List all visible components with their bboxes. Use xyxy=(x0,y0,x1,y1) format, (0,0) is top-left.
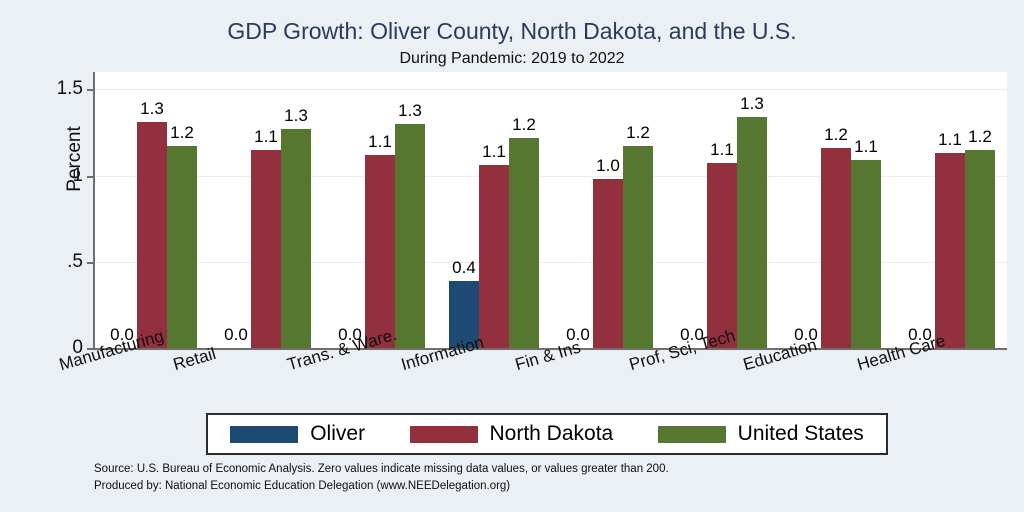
gdp-growth-bar-chart: GDP Growth: Oliver County, North Dakota,… xyxy=(0,0,1024,512)
bar-value-label: 1.1 xyxy=(254,127,278,147)
chart-subtitle: During Pandemic: 2019 to 2022 xyxy=(0,50,1024,68)
legend-item[interactable]: North Dakota xyxy=(410,422,614,446)
bar-value-label: 1.1 xyxy=(854,137,878,157)
bar-value-label: 1.1 xyxy=(482,142,506,162)
legend-swatch xyxy=(658,426,726,443)
gridline xyxy=(95,89,1007,90)
bar-value-label: 1.2 xyxy=(512,115,536,135)
bar-value-label: 1.1 xyxy=(710,140,734,160)
plot-area: 0.511.5 0.01.31.20.01.11.30.01.11.30.41.… xyxy=(93,72,1007,350)
bar xyxy=(707,163,737,348)
legend-label: Oliver xyxy=(310,422,365,446)
bar-value-label: 1.3 xyxy=(284,106,308,126)
bar xyxy=(821,148,851,348)
chart-footer: Source: U.S. Bureau of Economic Analysis… xyxy=(94,461,669,494)
legend-label: United States xyxy=(738,422,864,446)
bar xyxy=(479,165,509,348)
y-tick-label: .5 xyxy=(67,251,83,273)
bar-value-label: 1.1 xyxy=(368,132,392,152)
chart-title: GDP Growth: Oliver County, North Dakota,… xyxy=(0,18,1024,45)
y-tick-mark xyxy=(87,262,95,264)
bar-value-label: 1.3 xyxy=(140,99,164,119)
bar xyxy=(137,122,167,348)
bar-value-label: 1.0 xyxy=(596,156,620,176)
bar xyxy=(623,146,653,348)
bar-value-label: 1.2 xyxy=(824,125,848,145)
bar xyxy=(365,155,395,348)
legend-swatch xyxy=(410,426,478,443)
y-tick-label: 1 xyxy=(72,165,83,187)
bar xyxy=(593,179,623,348)
bar xyxy=(251,150,281,348)
bar-value-label: 1.2 xyxy=(968,127,992,147)
bar-value-label: 0.0 xyxy=(224,325,248,345)
bar xyxy=(851,160,881,348)
bar xyxy=(737,117,767,348)
y-tick-mark xyxy=(87,89,95,91)
bar-value-label: 0.4 xyxy=(452,258,476,278)
bar-value-label: 1.2 xyxy=(626,123,650,143)
chart-legend: OliverNorth DakotaUnited States xyxy=(206,413,888,455)
bar xyxy=(281,129,311,348)
bar-value-label: 1.1 xyxy=(938,130,962,150)
bar xyxy=(965,150,995,348)
bar-value-label: 1.3 xyxy=(398,101,422,121)
y-tick-label: 1.5 xyxy=(57,78,83,100)
y-axis-label: Percent xyxy=(64,94,86,224)
y-tick-mark xyxy=(87,176,95,178)
bar xyxy=(509,138,539,348)
footer-producer: Produced by: National Economic Education… xyxy=(94,478,669,495)
footer-source: Source: U.S. Bureau of Economic Analysis… xyxy=(94,461,669,478)
legend-item[interactable]: United States xyxy=(658,422,864,446)
bar-value-label: 1.3 xyxy=(740,94,764,114)
legend-item[interactable]: Oliver xyxy=(230,422,365,446)
bar xyxy=(935,153,965,348)
bar xyxy=(167,146,197,348)
legend-label: North Dakota xyxy=(490,422,614,446)
bar-value-label: 1.2 xyxy=(170,123,194,143)
legend-swatch xyxy=(230,426,298,443)
bar xyxy=(395,124,425,348)
